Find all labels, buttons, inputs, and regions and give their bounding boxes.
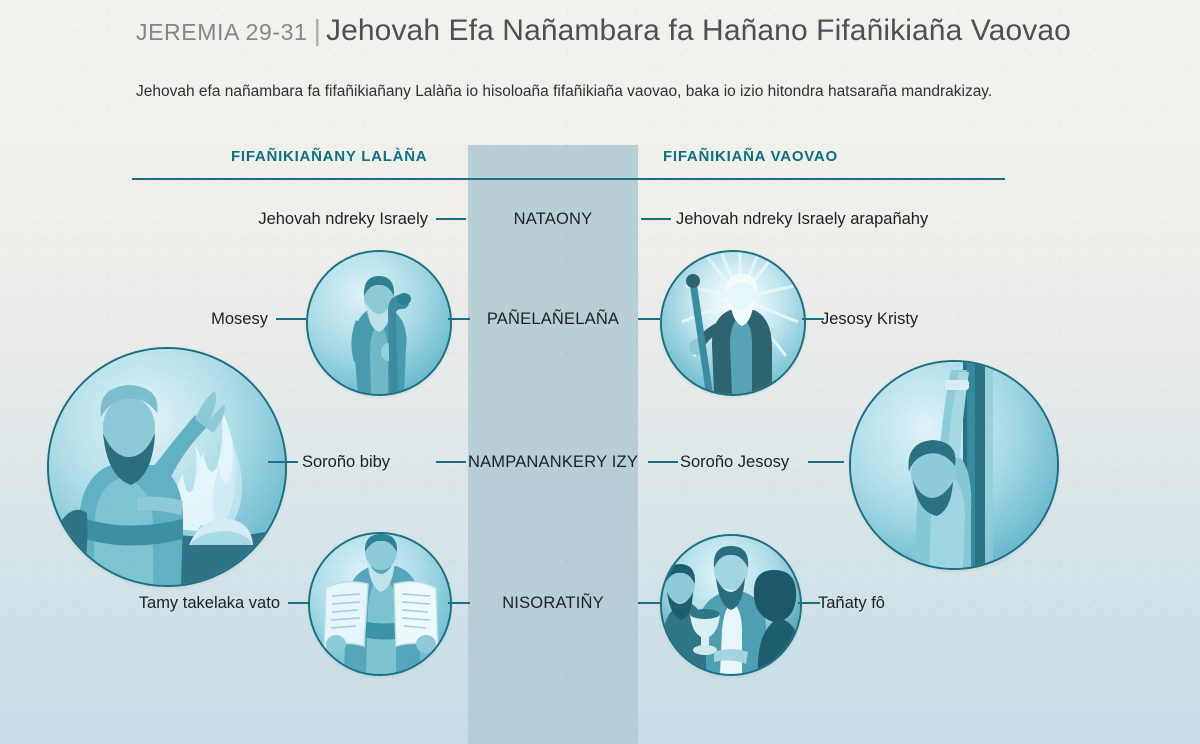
page-title: JEREMIA 29-31|Jehovah Efa Nañambara fa H…	[136, 16, 1136, 46]
infographic-canvas: JEREMIA 29-31|Jehovah Efa Nañambara fa H…	[0, 0, 1200, 744]
moses-stone-tablets-icon	[308, 532, 452, 676]
connector-line	[276, 318, 306, 320]
row-label-right: Soroño Jesosy	[680, 454, 789, 471]
connector-line	[436, 218, 466, 220]
row-label-left: Mosesy	[120, 311, 268, 328]
connector-line	[638, 602, 660, 604]
row-label-left: Soroño biby	[302, 454, 390, 471]
connector-line	[798, 602, 820, 604]
connector-line	[448, 318, 470, 320]
connector-line	[648, 461, 678, 463]
memorial-cup-disciples-icon	[660, 534, 802, 676]
row-label-center: NAMPANANKERY IZY	[456, 454, 650, 471]
intro-paragraph: Jehovah efa nañambara fa fifañikiañany L…	[136, 80, 1041, 104]
connector-line	[641, 218, 671, 220]
row-label-left: Tamy takelaka vato	[40, 595, 280, 612]
row-label-center: PAÑELAÑELAÑA	[468, 311, 638, 328]
jesus-on-torture-stake-icon	[849, 360, 1059, 570]
column-heading-left: FIFAÑIKIAÑANY LALÀÑA	[231, 148, 427, 165]
glorified-jesus-with-scepter-icon	[660, 250, 806, 396]
connector-line	[288, 602, 310, 604]
row-label-right: Jehovah ndreky Israely arapañahy	[676, 211, 928, 228]
scripture-reference: JEREMIA 29-31	[136, 19, 307, 45]
title-text: Jehovah Efa Nañambara fa Hañano Fifañiki…	[326, 14, 1071, 47]
moses-with-staff-icon	[306, 250, 452, 396]
header-divider-rule	[132, 178, 1005, 180]
row-label-center: NATAONY	[468, 211, 638, 228]
title-separator: |	[313, 15, 321, 47]
center-column-band	[468, 145, 638, 744]
connector-line	[268, 461, 298, 463]
header: JEREMIA 29-31|Jehovah Efa Nañambara fa H…	[136, 16, 1136, 46]
row-label-left: Jehovah ndreky Israely	[188, 211, 428, 228]
row-label-center: NISORATIÑY	[468, 595, 638, 612]
column-heading-right: FIFAÑIKIAÑA VAOVAO	[663, 148, 838, 165]
connector-line	[448, 602, 470, 604]
connector-line	[808, 461, 844, 463]
row-label-right: Jesosy Kristy	[821, 311, 918, 328]
connector-line	[638, 318, 660, 320]
priest-animal-sacrifice-altar-icon	[47, 347, 287, 587]
row-label-right: Tañaty fô	[818, 595, 885, 612]
